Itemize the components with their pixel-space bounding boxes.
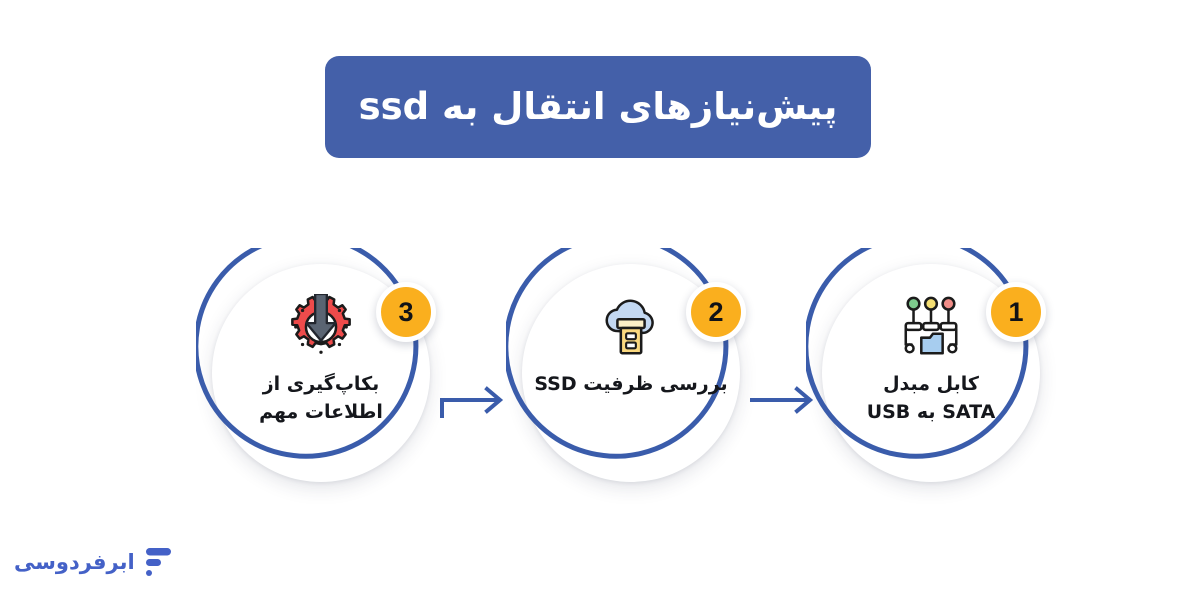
step-label-line1: کابل مبدل	[883, 373, 979, 395]
cloud-archive-icon	[596, 294, 666, 360]
step-label: بکاپ‌گیری از اطلاعات مهم	[221, 370, 421, 426]
step-label: بررسی ظرفیت SSD	[531, 370, 731, 398]
step-number-badge: 1	[986, 282, 1046, 342]
page-title: پیش‌نیازهای انتقال به ssd	[359, 86, 838, 129]
brand-logo[interactable]: ابرفردوسی	[14, 540, 173, 584]
step-number-badge: 2	[686, 282, 746, 342]
three-bars-logo-mark-icon	[145, 545, 173, 579]
arrow-right-icon	[440, 378, 510, 422]
flow-step-2[interactable]: بررسی ظرفیت SSD 2	[506, 248, 756, 498]
step-label-line1: بررسی ظرفیت SSD	[534, 373, 727, 395]
step-label-line1: بکاپ‌گیری از	[263, 373, 380, 395]
step-number-badge: 3	[376, 282, 436, 342]
title-banner: پیش‌نیازهای انتقال به ssd	[325, 56, 871, 158]
step-number: 3	[398, 299, 413, 326]
gear-download-icon	[286, 294, 356, 360]
process-flow: بکاپ‌گیری از اطلاعات مهم 3 بررسی ظرفیت S…	[0, 248, 1200, 518]
step-label-line2: SATA به USB	[831, 398, 1031, 426]
step-label: کابل مبدل SATA به USB	[831, 370, 1031, 426]
brand-name: ابرفردوسی	[14, 552, 135, 573]
step-label-line2: اطلاعات مهم	[221, 398, 421, 426]
sata-usb-hub-icon	[896, 294, 966, 360]
arrow-right-icon	[750, 378, 820, 422]
step-number: 2	[708, 299, 723, 326]
step-number: 1	[1008, 299, 1023, 326]
flow-step-1[interactable]: کابل مبدل SATA به USB 1	[806, 248, 1056, 498]
flow-step-3[interactable]: بکاپ‌گیری از اطلاعات مهم 3	[196, 248, 446, 498]
